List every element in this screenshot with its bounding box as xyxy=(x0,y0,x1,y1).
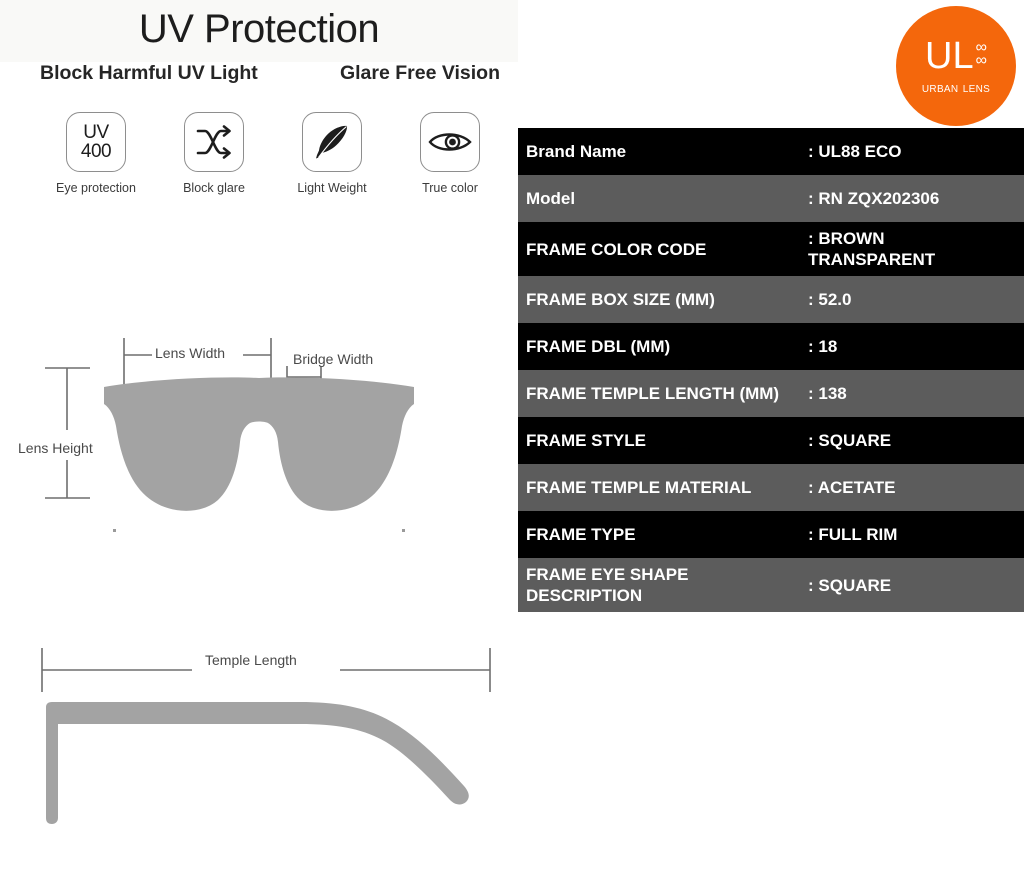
infinity-icon: ∞ ∞ xyxy=(976,41,987,67)
product-specification-table: Brand Name: UL88 ECOModel: RN ZQX202306F… xyxy=(518,128,1024,612)
spec-label: FRAME EYE SHAPE DESCRIPTION xyxy=(518,564,808,606)
subtitle-block-uv: Block Harmful UV Light xyxy=(40,62,258,85)
spec-label: FRAME TYPE xyxy=(518,524,808,545)
eye-glyph xyxy=(428,128,472,156)
spec-value: : 18 xyxy=(808,336,1024,357)
spec-row: FRAME TYPE: FULL RIM xyxy=(518,511,1024,558)
shuffle-arrows-glyph xyxy=(194,125,234,159)
spec-row: FRAME BOX SIZE (MM): 52.0 xyxy=(518,276,1024,323)
spec-row: FRAME TEMPLE LENGTH (MM): 138 xyxy=(518,370,1024,417)
feature-caption: True color xyxy=(422,181,478,195)
subtitle-glare-free: Glare Free Vision xyxy=(340,62,500,85)
eye-pupil xyxy=(449,139,456,146)
lens-height-label: Lens Height xyxy=(18,440,93,456)
spec-value: : FULL RIM xyxy=(808,524,1024,545)
spec-row: Model: RN ZQX202306 xyxy=(518,175,1024,222)
feather-glyph xyxy=(312,122,352,162)
temple-length-label: Temple Length xyxy=(205,652,297,668)
spec-value: : RN ZQX202306 xyxy=(808,188,1024,209)
spec-row: FRAME EYE SHAPE DESCRIPTION: SQUARE xyxy=(518,558,1024,612)
spec-value: : SQUARE xyxy=(808,430,1024,451)
spec-row: Brand Name: UL88 ECO xyxy=(518,128,1024,175)
uv400-icon: UV 400 xyxy=(66,112,126,172)
spec-row: FRAME TEMPLE MATERIAL: ACETATE xyxy=(518,464,1024,511)
eye-icon xyxy=(420,112,480,172)
spec-label: Model xyxy=(518,188,808,209)
lens-width-label: Lens Width xyxy=(155,345,225,361)
page-title: UV Protection xyxy=(0,6,518,52)
spec-label: FRAME DBL (MM) xyxy=(518,336,808,357)
spec-label: FRAME COLOR CODE xyxy=(518,239,808,260)
feather-icon xyxy=(302,112,362,172)
infinity-bottom: ∞ xyxy=(976,54,987,67)
spec-value: : UL88 ECO xyxy=(808,141,1024,162)
spec-label: FRAME BOX SIZE (MM) xyxy=(518,289,808,310)
logo-wordmark: Urban Lens xyxy=(922,80,990,96)
temple-arm-shape xyxy=(46,702,469,824)
feature-icon-row: UV 400 Eye protection Block glare xyxy=(48,112,498,195)
spec-value: : 52.0 xyxy=(808,289,1024,310)
bridge-width-label: Bridge Width xyxy=(293,351,373,367)
feature-caption: Light Weight xyxy=(297,181,366,195)
logo-initials: UL xyxy=(925,37,974,75)
logo-mark: UL ∞ ∞ xyxy=(925,37,987,75)
uv400-line2: 400 xyxy=(81,142,111,161)
spec-value: : 138 xyxy=(808,383,1024,404)
spec-label: Brand Name xyxy=(518,141,808,162)
feature-eye-protection: UV 400 Eye protection xyxy=(48,112,144,195)
spec-row: FRAME COLOR CODE: BROWN TRANSPARENT xyxy=(518,222,1024,276)
uv400-badge-text: UV 400 xyxy=(81,123,111,161)
diagram-dot-right xyxy=(402,529,405,532)
spec-value: : ACETATE xyxy=(808,477,1024,498)
spec-value: : BROWN TRANSPARENT xyxy=(808,228,1024,270)
diagram-dot-left xyxy=(113,529,116,532)
lens-height-guide xyxy=(45,368,90,498)
uv400-line1: UV xyxy=(81,123,111,142)
eyeglass-frame-shape xyxy=(104,377,414,510)
feature-caption: Eye protection xyxy=(56,181,136,195)
spec-row: FRAME STYLE: SQUARE xyxy=(518,417,1024,464)
shuffle-arrows-icon xyxy=(184,112,244,172)
brand-logo[interactable]: UL ∞ ∞ Urban Lens xyxy=(896,6,1016,126)
spec-label: FRAME STYLE xyxy=(518,430,808,451)
feature-caption: Block glare xyxy=(183,181,245,195)
feature-light-weight: Light Weight xyxy=(284,112,380,195)
spec-value: : SQUARE xyxy=(808,575,1024,596)
header-subtitles: Block Harmful UV Light Glare Free Vision xyxy=(40,62,500,85)
spec-label: FRAME TEMPLE MATERIAL xyxy=(518,477,808,498)
feature-block-glare: Block glare xyxy=(166,112,262,195)
spec-row: FRAME DBL (MM): 18 xyxy=(518,323,1024,370)
feature-true-color: True color xyxy=(402,112,498,195)
product-illustration-panel: UV Protection Block Harmful UV Light Gla… xyxy=(0,0,518,886)
spec-label: FRAME TEMPLE LENGTH (MM) xyxy=(518,383,808,404)
